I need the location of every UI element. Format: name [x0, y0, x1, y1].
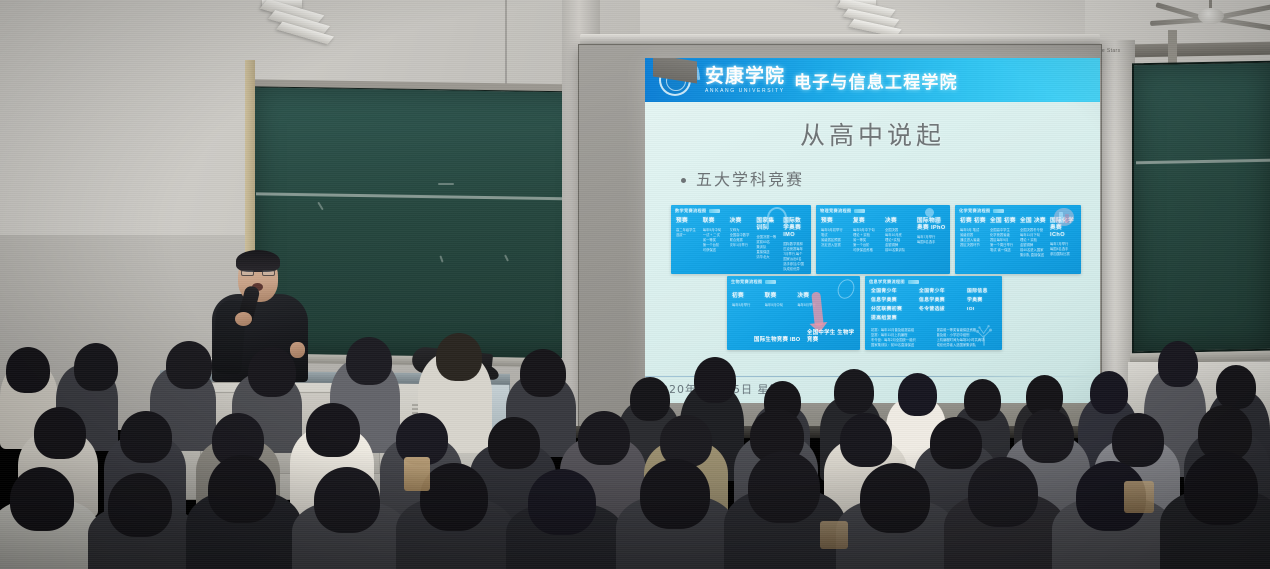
audience-head [34, 407, 86, 459]
stage-body: 高二年级学生选拔一 [676, 228, 700, 238]
audience-head [840, 413, 892, 467]
stage-head: 决赛 [730, 218, 754, 225]
audience-head [436, 333, 482, 381]
stage-group: 全国青少年 信息学奥赛 冬令营选拔 [919, 289, 961, 325]
audience-head [306, 403, 360, 457]
audience-head [1022, 409, 1074, 463]
chalk-mark [438, 183, 454, 185]
stage-body: 每年9月中旬一试 + 二试省一等奖第一个台阶可获保送 [703, 228, 727, 253]
lightbulb-glow-icon [934, 217, 941, 224]
stage-column: 复赛每年9月中下旬理论 + 实验省一等奖第一个台阶可获保送资格 [853, 218, 882, 253]
card-badge-icon [765, 280, 776, 284]
omega-icon [767, 207, 787, 229]
stage-column: 预赛每年9月初举行笔试省级赛区预赛决定进入复赛 [821, 218, 850, 253]
card-badge-icon [709, 209, 720, 213]
audience-head [1090, 371, 1128, 414]
stage-body: 国际数学奥林匹克竞赛每年7月举行,每个国家派出6名选手参加,中国队成绩优异 [783, 242, 807, 272]
lecture-hall-photo: Three Stars 安康学院 ANKANG UNIVERSITY 电子与信息… [0, 0, 1270, 569]
stage-body: 全国决赛一等奖前60名集训队直接保送清华北大 [756, 235, 780, 260]
card-badge-icon [854, 209, 865, 213]
stage-head: 联赛 [703, 218, 727, 225]
audience-head [1112, 413, 1164, 467]
audience-head [520, 349, 566, 397]
eyeglasses-icon [241, 270, 275, 276]
audience-head [1158, 341, 1198, 387]
audience-head [248, 347, 296, 397]
stage-head: 联赛 [765, 293, 795, 300]
card-title-chemistry: 化学竞赛流程图 [959, 208, 990, 214]
audience-head [694, 357, 736, 403]
university-name-cn: 安康学院 [705, 67, 785, 86]
olympiad-cards-top-row: 数学竞赛流程图 预赛高二年级学生选拔一 联赛每年9月中旬一试 + 二试省一等奖第… [671, 205, 1081, 274]
slide-header-banner: 安康学院 ANKANG UNIVERSITY 电子与信息工程学院 [645, 58, 1100, 102]
stage-head: 复赛 [853, 218, 882, 225]
stage-column: 全国 初赛全国高中学生化学竞赛省级赛区每年9月第一个周日举行笔试 省一保送 [990, 218, 1017, 258]
stage-column: 预赛高二年级学生选拔一 [676, 218, 700, 272]
card-header: 数学竞赛流程图 [671, 205, 811, 214]
audience-head [528, 469, 596, 535]
audience-head [898, 373, 937, 416]
audience-head [120, 411, 172, 463]
stage-column: 全国 决赛全国决赛冬令营每年11月下旬理论 + 实验金银铜牌前40名进入国家集训… [1020, 218, 1047, 258]
card-physics-olympiad: 物理竞赛流程图 预赛每年9月初举行笔试省级赛区预赛决定进入复赛 复赛每年9月中下… [816, 205, 950, 274]
lecture-chair [1124, 481, 1154, 513]
card-title-informatics: 信息学竞赛流程图 [869, 279, 905, 285]
card-title-physics: 物理竞赛流程图 [820, 208, 851, 214]
audience-head [748, 451, 820, 523]
audience-head [964, 379, 1001, 421]
stage-body: 每年9月初举行笔试省级赛区预赛决定进入复赛 [821, 228, 850, 248]
stage-head: 预赛 [676, 218, 700, 225]
audience-head [346, 337, 392, 385]
audience-head [640, 459, 710, 529]
card-badge-icon [993, 209, 1004, 213]
stage-body: 每年7月举行每国5名选手 [917, 235, 946, 245]
stage-column: 国际物理奥赛 IPhO每年7月举行每国5名选手 [917, 218, 946, 253]
audience-head [74, 343, 118, 391]
university-name-en: ANKANG UNIVERSITY [705, 88, 785, 94]
audience-head [834, 369, 874, 414]
stage-column: 联赛每年9月中旬一试 + 二试省一等奖第一个台阶可获保送 [703, 218, 727, 272]
stage-body: 每年5月举行 [732, 303, 762, 308]
presenter-hair [236, 250, 280, 272]
ankang-university-seal-icon [653, 60, 705, 100]
stage-column: 决赛全国决赛每年10月底理论+实验金银铜牌前50名集训队 [885, 218, 914, 253]
audience-head [930, 417, 982, 469]
stage-body: 每年7月举行每国4名选手参加国际比赛 [1050, 242, 1077, 257]
stage-head: 全国 初赛 [990, 218, 1017, 225]
lightbulb-icon [925, 208, 934, 217]
card-badge-icon [908, 280, 919, 284]
slide-bullet-item: 五大学科竞赛 [681, 166, 1100, 190]
stage-body: 每年9月 笔试省级初赛通过进入省级赛区决赛环节 [960, 228, 987, 248]
bullet-dot-icon [681, 178, 686, 183]
slide-bullet-text: 五大学科竞赛 [696, 170, 804, 189]
card-title-math: 数学竞赛流程图 [675, 208, 706, 214]
audience-head [1184, 451, 1258, 525]
lecture-chair [404, 457, 430, 491]
stage-head: 全国 决赛 [1020, 218, 1047, 225]
audience-head [578, 411, 630, 465]
ceiling-fan-icon [1198, 8, 1224, 24]
presenter-hand [235, 312, 252, 326]
stage-body: 每年9月中下旬理论 + 实验省一等奖第一个台阶可获保送资格 [853, 228, 882, 253]
stage-head: 初赛 初赛 [960, 218, 987, 225]
stage-group: 全国青少年 信息学奥赛 分区联赛初赛 提高组复赛 [871, 289, 913, 325]
card-chemistry-olympiad: 化学竞赛流程图 初赛 初赛每年9月 笔试省级初赛通过进入省级赛区决赛环节 全国 … [955, 205, 1081, 274]
audience-head [166, 341, 212, 389]
audience-head [10, 467, 74, 531]
audience-head [630, 377, 670, 421]
audience-head [860, 463, 930, 533]
stage-body: 全国高中学生化学竞赛省级赛区每年9月第一个周日举行笔试 省一保送 [990, 228, 1017, 253]
card-math-olympiad: 数学竞赛流程图 预赛高二年级学生选拔一 联赛每年9月中旬一试 + 二试省一等奖第… [671, 205, 811, 274]
stage-body: 每年5月中旬 [765, 303, 795, 308]
flask-icon [1054, 208, 1074, 226]
stage-column: 初赛 初赛每年9月 笔试省级初赛通过进入省级赛区决赛环节 [960, 218, 987, 258]
stage-head: 国际物理奥赛 IPhO [917, 218, 946, 232]
card-header: 信息学竞赛流程图 [865, 276, 1002, 285]
stage-head: 初赛 [732, 293, 762, 300]
audience-head [108, 473, 172, 537]
audience-head [208, 455, 276, 523]
audience-head [314, 467, 380, 533]
green-chalkboard-right [1132, 61, 1270, 354]
stage-column: 联赛每年5月中旬 [765, 293, 795, 308]
stage-body: 全国决赛每年10月底理论+实验金银铜牌前50名集训队 [885, 228, 914, 253]
audience-head [1216, 365, 1256, 409]
stage-column: 决赛又称为全国高中数学联合竞赛次年1月举行 [730, 218, 754, 272]
audience-head [488, 417, 540, 469]
stage-head: 预赛 [821, 218, 850, 225]
card-title-biology: 生物竞赛流程图 [731, 279, 762, 285]
stage-body: 全国决赛冬令营每年11月下旬理论 + 实验金银铜牌前40名进入国家集训队 直接保… [1020, 228, 1047, 258]
audience-head [6, 347, 50, 393]
stage-body: 又称为全国高中数学联合竞赛次年1月举行 [730, 228, 754, 248]
lecture-chair [820, 521, 848, 549]
slide-title: 从高中说起 [645, 116, 1100, 152]
audience-head [420, 463, 488, 531]
stage-head: 决赛 [885, 218, 914, 225]
seated-student-audience [0, 339, 1270, 569]
stage-column: 初赛每年5月举行 [732, 293, 762, 308]
department-name: 电子与信息工程学院 [794, 68, 958, 93]
audience-head [968, 457, 1038, 527]
beam-post [1168, 30, 1177, 66]
